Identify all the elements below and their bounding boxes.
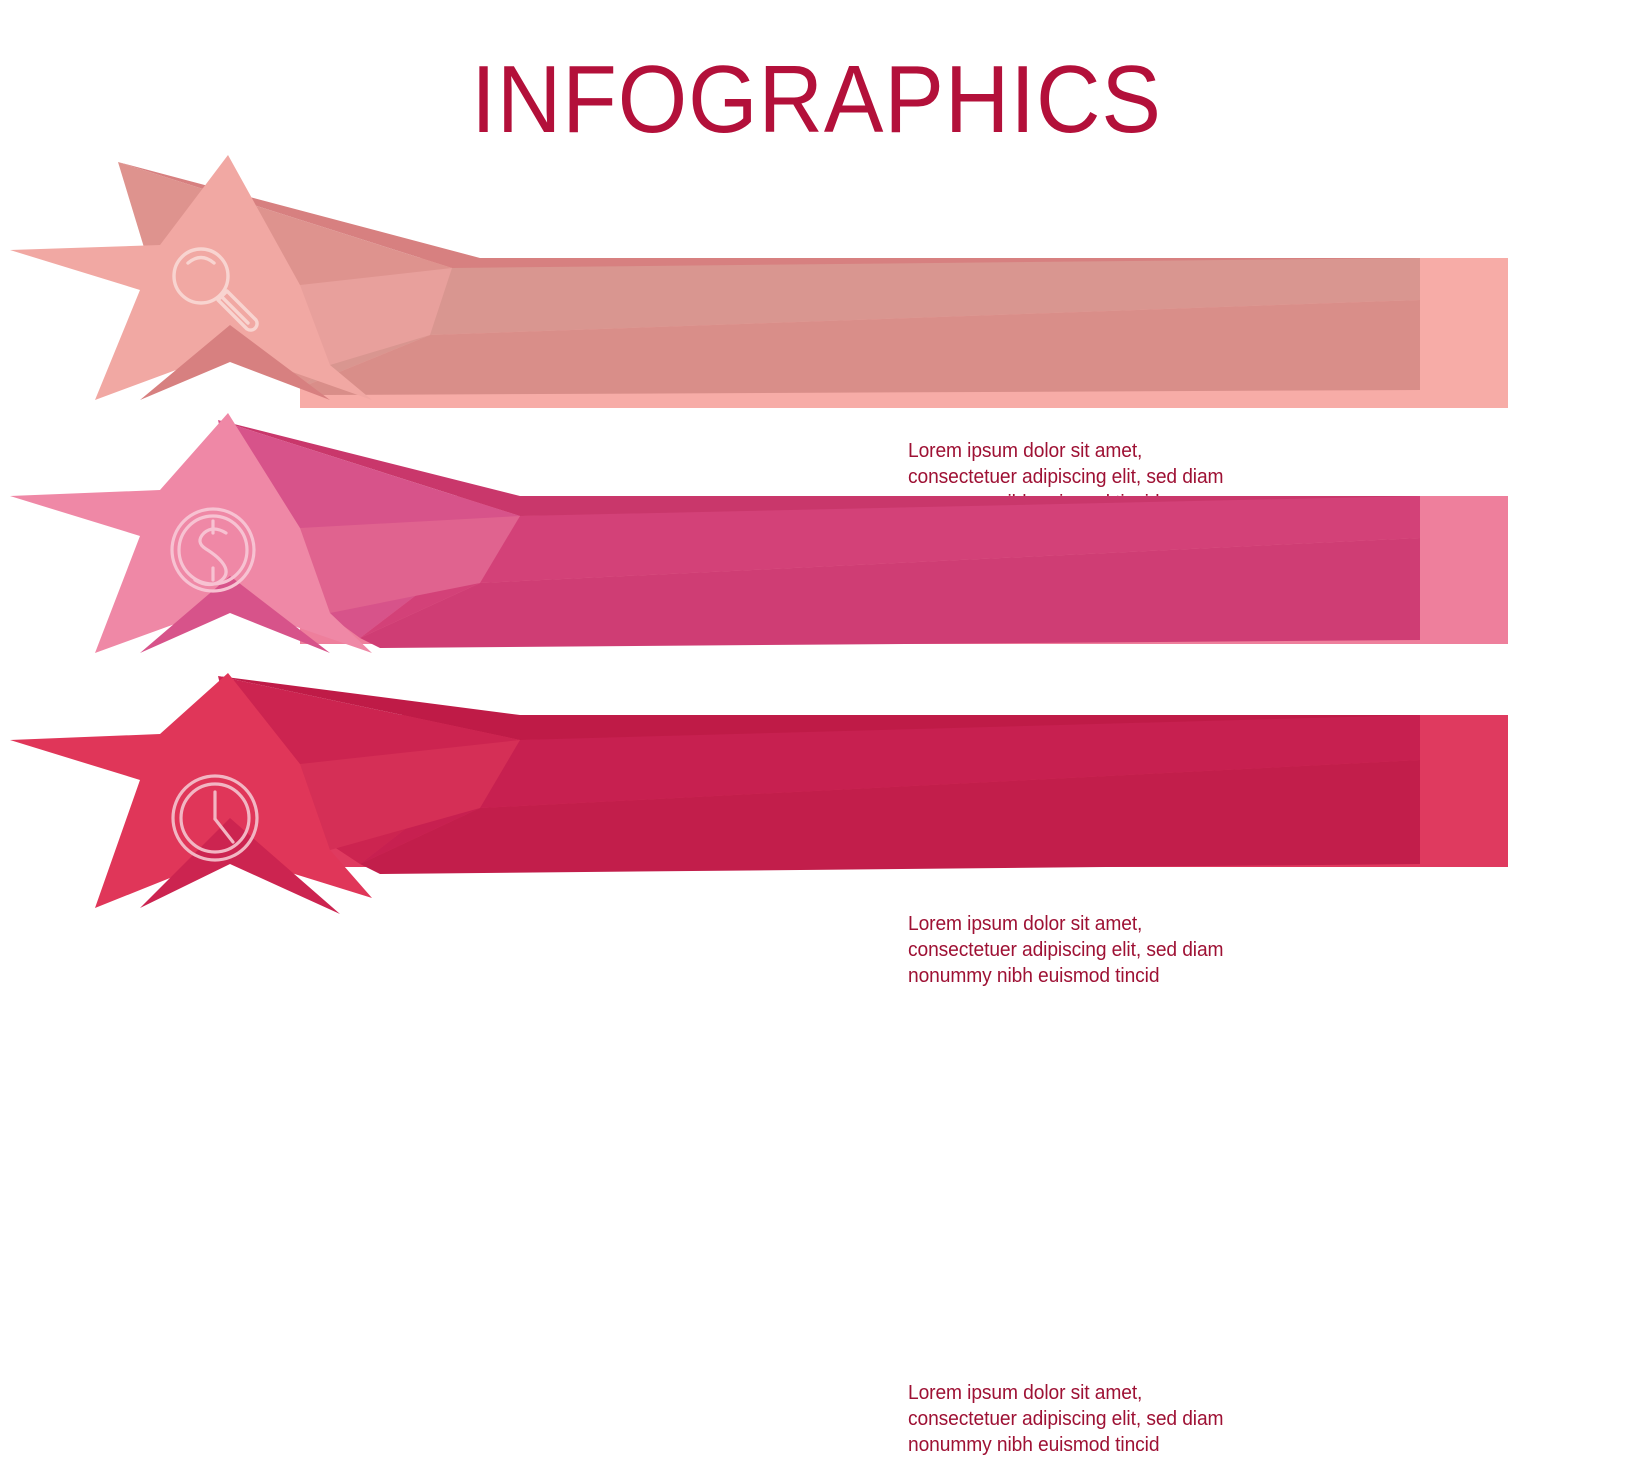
infographic-row-research[interactable]: RESEARCH Lorem ipsum dolor sit amet, con… bbox=[0, 150, 1633, 412]
time-description: Lorem ipsum dolor sit amet, consectetuer… bbox=[908, 1380, 1254, 1458]
infographic-canvas: INFOGRAPHICS RESEARCH bbox=[0, 0, 1633, 980]
page-title: INFOGRAPHICS bbox=[57, 52, 1576, 148]
infographic-row-time[interactable]: TIME Lorem ipsum dolor sit amet, consect… bbox=[0, 668, 1633, 980]
money-row-graphic bbox=[0, 408, 1633, 670]
time-row-graphic bbox=[0, 668, 1633, 980]
infographic-row-money[interactable]: MONEY Lorem ipsum dolor sit amet, consec… bbox=[0, 408, 1633, 670]
research-row-graphic bbox=[0, 150, 1633, 412]
time-label: TIME bbox=[572, 1391, 699, 1445]
